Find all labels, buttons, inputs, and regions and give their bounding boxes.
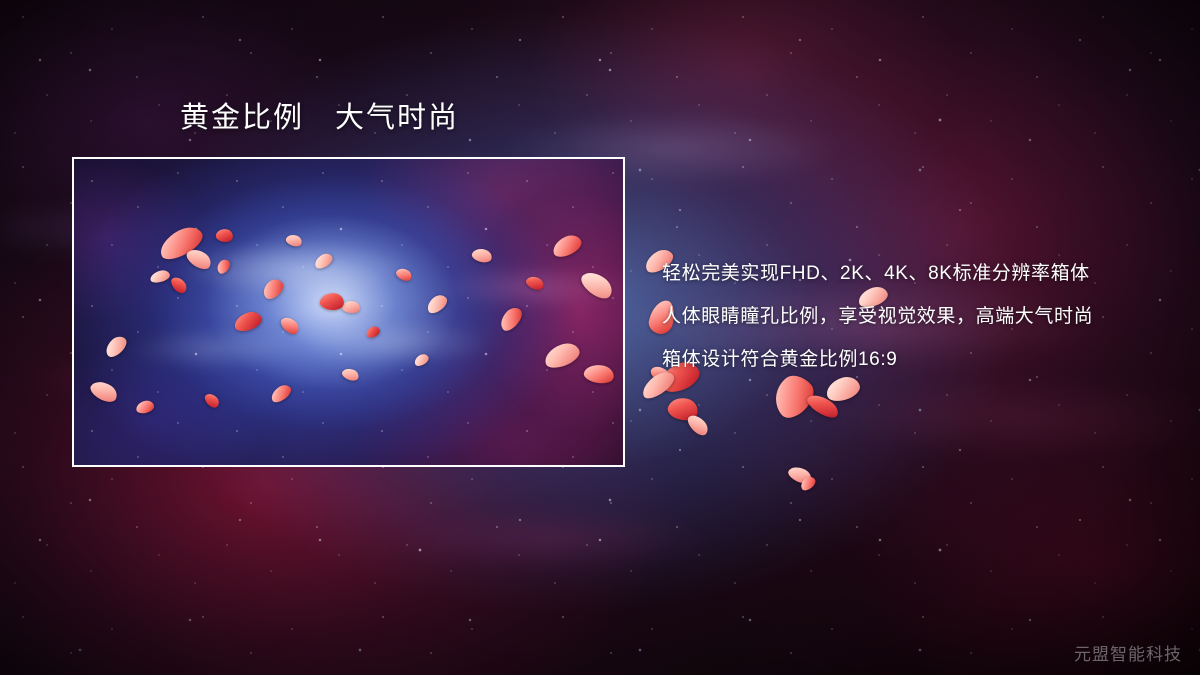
slide-canvas: 黄金比例 大气时尚 bbox=[0, 0, 1200, 675]
petal-out-08 bbox=[685, 411, 711, 438]
petal-out-07 bbox=[666, 395, 700, 424]
framed-photo bbox=[72, 157, 625, 467]
petal-out-10 bbox=[804, 390, 841, 422]
body-line-1: 轻松完美实现FHD、2K、4K、8K标准分辨率箱体 bbox=[662, 252, 1162, 295]
body-line-2: 人体眼睛瞳孔比例，享受视觉效果，高端大气时尚 bbox=[662, 295, 1162, 338]
photo-image bbox=[74, 159, 623, 465]
body-text-block: 轻松完美实现FHD、2K、4K、8K标准分辨率箱体 人体眼睛瞳孔比例，享受视觉效… bbox=[662, 252, 1162, 381]
petal-out-13 bbox=[798, 474, 817, 492]
watermark: 元盟智能科技 bbox=[1074, 640, 1182, 665]
page-title: 黄金比例 大气时尚 bbox=[180, 100, 459, 136]
photo-starfield bbox=[74, 159, 623, 465]
body-line-3: 箱体设计符合黄金比例16:9 bbox=[662, 338, 1162, 381]
petal-out-12 bbox=[786, 463, 814, 486]
